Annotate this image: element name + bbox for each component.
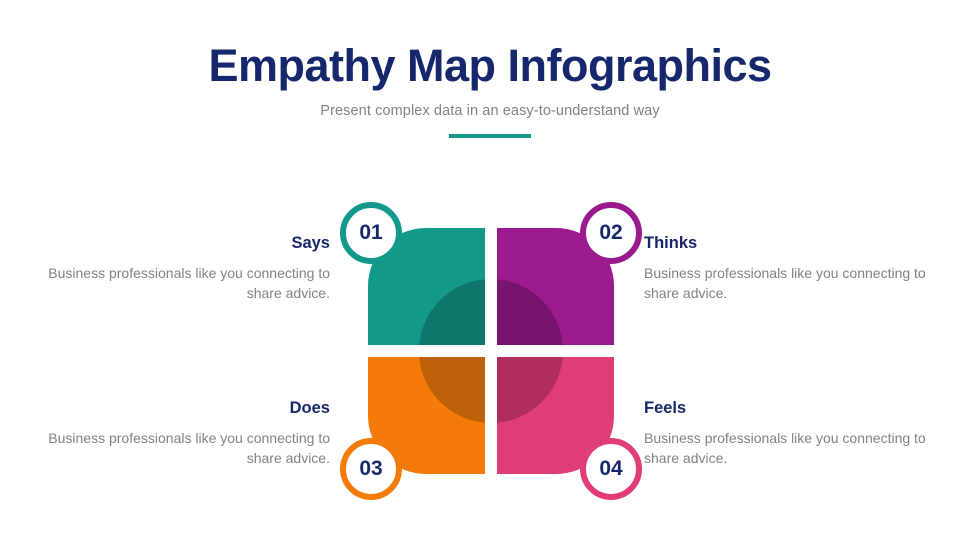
block-title-does: Does xyxy=(30,399,330,418)
slide-canvas: Empathy Map Infographics Present complex… xyxy=(0,0,980,551)
title-divider xyxy=(449,134,531,138)
block-body-feels: Business professionals like you connecti… xyxy=(644,428,944,469)
page-title: Empathy Map Infographics xyxy=(0,40,980,92)
text-block-does: Does Business professionals like you con… xyxy=(30,399,330,469)
block-body-does: Business professionals like you connecti… xyxy=(30,428,330,469)
badge-01[interactable]: 01 xyxy=(340,202,402,264)
text-block-feels: Feels Business professionals like you co… xyxy=(644,399,944,469)
block-title-says: Says xyxy=(30,234,330,253)
empathy-map-diagram: 01 02 03 04 xyxy=(368,228,614,474)
badge-04[interactable]: 04 xyxy=(580,438,642,500)
badge-03[interactable]: 03 xyxy=(340,438,402,500)
block-title-thinks: Thinks xyxy=(644,234,944,253)
block-title-feels: Feels xyxy=(644,399,944,418)
quadrant-divider-horizontal xyxy=(364,345,618,357)
badge-02[interactable]: 02 xyxy=(580,202,642,264)
block-body-says: Business professionals like you connecti… xyxy=(30,263,330,304)
block-body-thinks: Business professionals like you connecti… xyxy=(644,263,944,304)
page-subtitle: Present complex data in an easy-to-under… xyxy=(0,103,980,119)
text-block-thinks: Thinks Business professionals like you c… xyxy=(644,234,944,304)
slide-header: Empathy Map Infographics Present complex… xyxy=(0,40,980,138)
text-block-says: Says Business professionals like you con… xyxy=(30,234,330,304)
